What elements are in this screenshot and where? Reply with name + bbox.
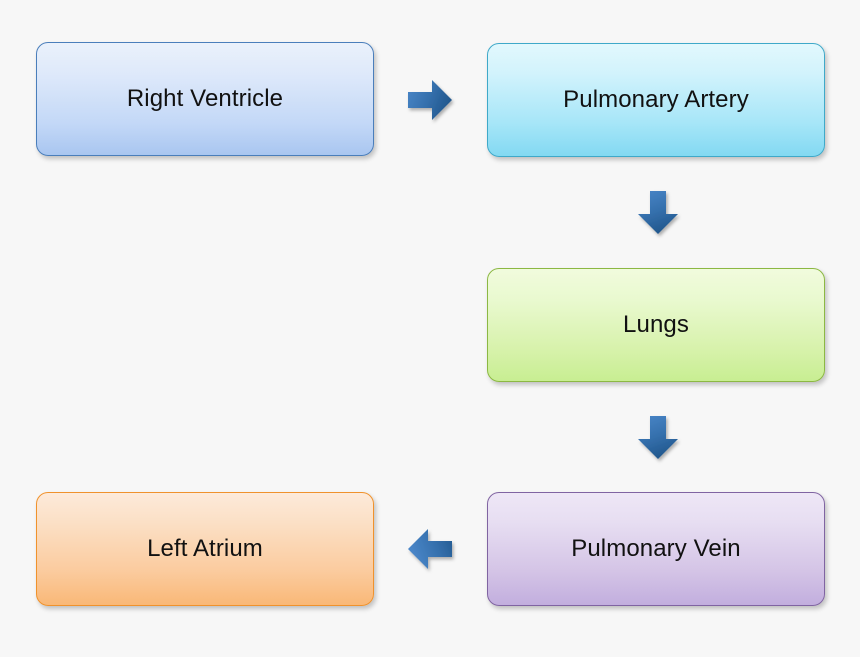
node-lungs[interactable]: Lungs — [487, 268, 825, 382]
arrow-left-icon — [406, 527, 454, 571]
node-right-ventricle[interactable]: Right Ventricle — [36, 42, 374, 156]
arrow-down-icon — [635, 414, 681, 462]
node-pulmonary-artery[interactable]: Pulmonary Artery — [487, 43, 825, 157]
node-pulmonary-vein-label: Pulmonary Vein — [571, 536, 741, 562]
node-pulmonary-vein[interactable]: Pulmonary Vein — [487, 492, 825, 606]
arrow-right-ventricle-to-pulmonary-artery — [406, 78, 454, 122]
arrow-lungs-to-pulmonary-vein — [635, 414, 681, 462]
arrow-down-icon — [635, 189, 681, 237]
node-right-ventricle-label: Right Ventricle — [127, 86, 283, 112]
node-lungs-label: Lungs — [623, 312, 689, 338]
arrow-pulmonary-artery-to-lungs — [635, 189, 681, 237]
node-pulmonary-artery-label: Pulmonary Artery — [563, 87, 749, 113]
arrow-pulmonary-vein-to-left-atrium — [406, 527, 454, 571]
node-left-atrium-label: Left Atrium — [147, 536, 263, 562]
diagram-canvas: Right Ventricle Pulmonary Artery — [0, 0, 860, 657]
arrow-right-icon — [406, 78, 454, 122]
node-left-atrium[interactable]: Left Atrium — [36, 492, 374, 606]
